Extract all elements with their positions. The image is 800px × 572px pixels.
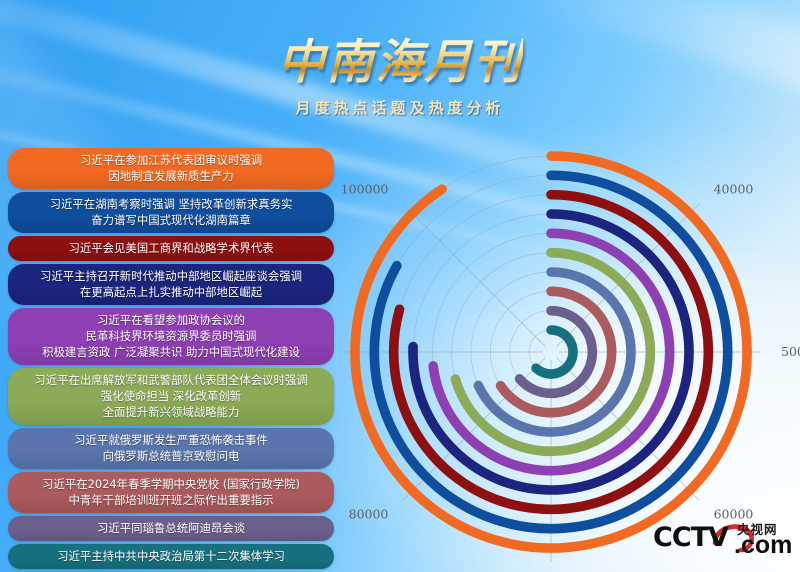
cctv-logo-cn-text: 央视网 (737, 522, 778, 537)
radial-chart-svg: 400005000060000700008000090000100000 (330, 120, 800, 572)
legend-item[interactable]: 习近平同瑙鲁总统阿迪昂会谈 (8, 516, 334, 541)
page-title: 中南海月刊 (278, 38, 523, 88)
topic-legend-list: 习近平在参加江苏代表团审议时强调 因地制宜发展新质生产力习近平在湖南考察时强调 … (8, 148, 334, 572)
axis-tick-label: 100000 (341, 181, 389, 196)
axis-tick-label: 40000 (714, 181, 754, 196)
legend-item[interactable]: 习近平会见美国工商界和战略学术界代表 (8, 236, 334, 261)
infographic-canvas: 中南海月刊 月度热点话题及热度分析 习近平在参加江苏代表团审议时强调 因地制宜发… (0, 0, 800, 572)
legend-item[interactable]: 习近平在湖南考察时强调 坚持改革创新求真务实 奋力谱写中国式现代化湖南篇章 (8, 192, 334, 233)
page-subtitle: 月度热点话题及热度分析 (0, 97, 800, 118)
header: 中南海月刊 月度热点话题及热度分析 (0, 38, 800, 118)
radial-bar-chart: 400005000060000700008000090000100000 (330, 120, 800, 572)
legend-item[interactable]: 习近平在出席解放军和武警部队代表团全体会议时强调 强化使命担当 深化改革创新 全… (8, 368, 334, 425)
legend-item[interactable]: 习近平主持召开新时代推动中部地区崛起座谈会强调 在更高起点上扎实推动中部地区崛起 (8, 264, 334, 305)
legend-item[interactable]: 习近平在看望参加政协会议的 民革科技界环境资源界委员时强调 积极建言资政 广泛凝… (8, 308, 334, 365)
legend-item[interactable]: 习近平在2024年春季学期中央党校 (国家行政学院) 中青年干部培训班开班之际作… (8, 472, 334, 513)
axis-tick-label: 50000 (781, 344, 800, 359)
cctv-logo-text: CCTV (653, 522, 728, 553)
axis-tick-label: 80000 (349, 507, 389, 522)
legend-item[interactable]: 习近平主持中共中央政治局第十二次集体学习 (8, 544, 334, 569)
chart-bars (355, 156, 747, 548)
cctv-logo: CCTV .com 央视网 (653, 519, 793, 559)
legend-item[interactable]: 习近平就俄罗斯发生严重恐怖袭击事件 向俄罗斯总统普京致慰问电 (8, 428, 334, 469)
legend-item[interactable]: 习近平在参加江苏代表团审议时强调 因地制宜发展新质生产力 (8, 148, 334, 189)
